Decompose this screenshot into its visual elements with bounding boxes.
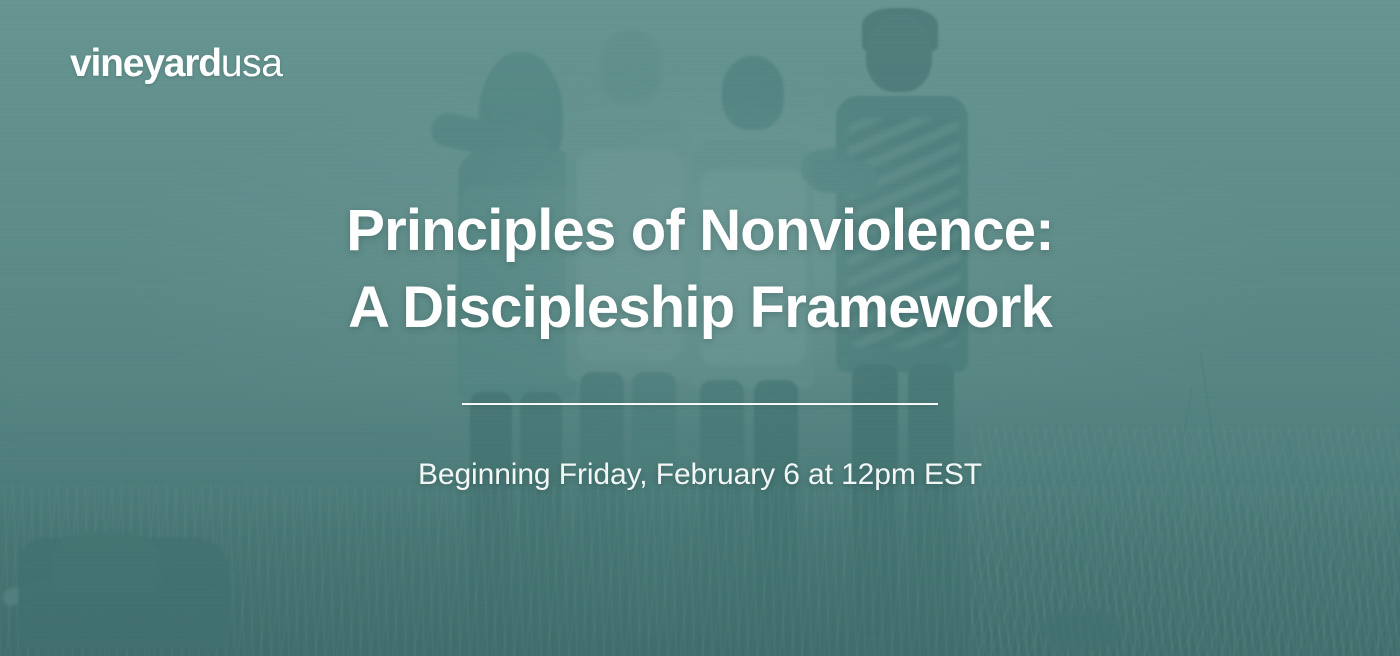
page-title: Principles of Nonviolence: A Discipleshi… — [0, 192, 1400, 346]
vineyard-usa-logo[interactable]: vineyardusa — [70, 44, 283, 83]
logo-light-text: usa — [221, 42, 283, 85]
title-line-1: Principles of Nonviolence: — [346, 198, 1054, 263]
banner-content: vineyardusa Principles of Nonviolence: A… — [0, 0, 1400, 656]
title-line-2: A Discipleship Framework — [0, 269, 1400, 346]
divider-rule — [462, 403, 938, 405]
logo-bold-text: vineyard — [70, 42, 221, 85]
event-banner: vineyardusa Principles of Nonviolence: A… — [0, 0, 1400, 656]
event-date-subtitle: Beginning Friday, February 6 at 12pm EST — [0, 457, 1400, 493]
